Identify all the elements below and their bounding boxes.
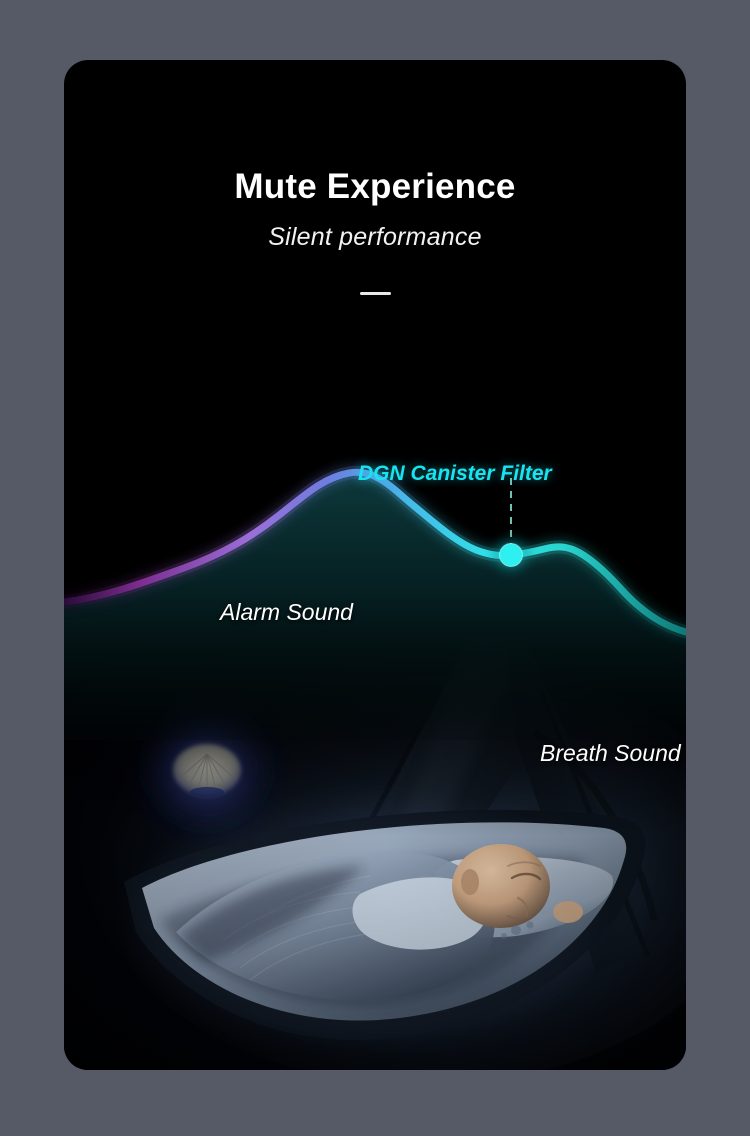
page-title: Mute Experience [64, 168, 686, 207]
product-card: Mute Experience Silent performance [64, 60, 686, 1070]
alarm-sound-label: Alarm Sound [220, 599, 353, 626]
horizontal-rule-icon [360, 292, 391, 295]
breath-sound-label: Breath Sound [540, 740, 681, 767]
page-subtitle: Silent performance [64, 223, 686, 252]
marker-callout-label: DGN Canister Filter [358, 462, 552, 486]
header-block: Mute Experience Silent performance [64, 60, 686, 295]
